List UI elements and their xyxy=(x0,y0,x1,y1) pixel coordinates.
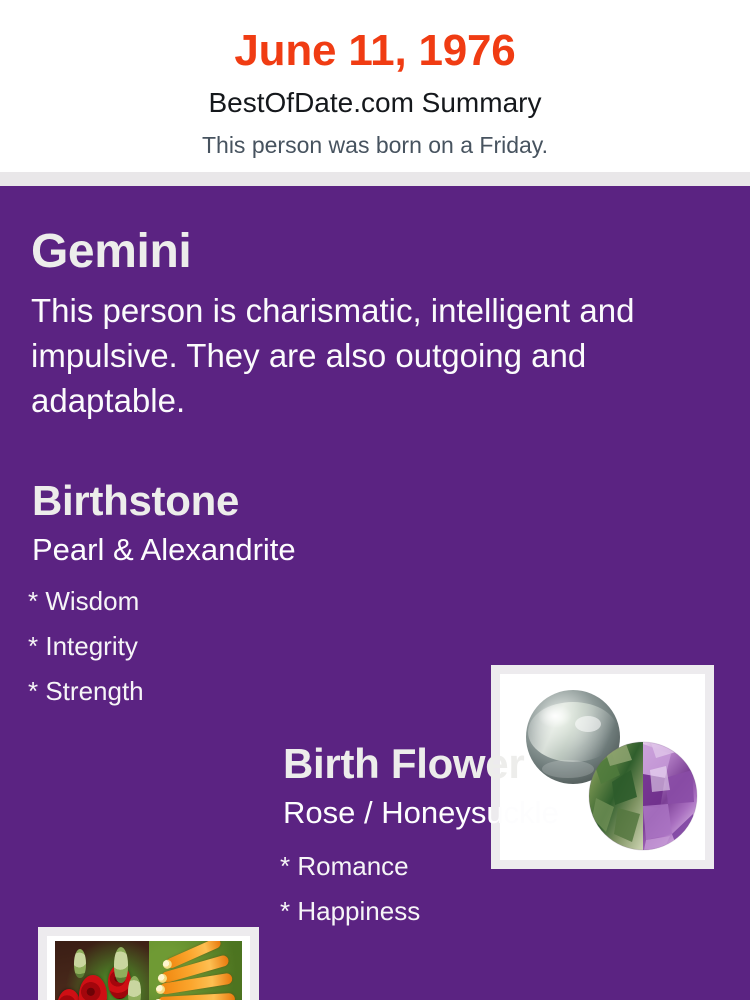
summary-panel: Gemini This person is charismatic, intel… xyxy=(0,186,750,1000)
birthstone-image xyxy=(491,665,714,869)
birth-flower-image xyxy=(38,927,259,1000)
list-item: * Wisdom xyxy=(28,579,144,624)
birth-flower-image-inner xyxy=(47,936,250,1000)
birthstone-title: Birthstone xyxy=(32,476,239,526)
page-title-date: June 11, 1976 xyxy=(0,24,750,78)
list-item: * Happiness xyxy=(280,889,420,934)
list-item: * Strength xyxy=(28,669,144,714)
birthstone-trait-list: * Wisdom * Integrity * Strength xyxy=(28,579,144,714)
birth-flower-trait-list: * Romance * Happiness xyxy=(280,844,420,934)
list-item: * Integrity xyxy=(28,624,144,669)
zodiac-description: This person is charismatic, intelligent … xyxy=(31,288,697,423)
birth-flower-title: Birth Flower xyxy=(283,739,524,789)
date-summary-card: June 11, 1976 BestOfDate.com Summary Thi… xyxy=(0,0,750,1000)
honeysuckle-photo-half xyxy=(149,941,243,1000)
card-header: June 11, 1976 BestOfDate.com Summary Thi… xyxy=(0,0,750,172)
birthstone-name: Pearl & Alexandrite xyxy=(32,530,296,570)
header-divider xyxy=(0,172,750,186)
birth-flower-name: Rose / Honeysuckle xyxy=(283,793,559,833)
rose-and-honeysuckle-graphic xyxy=(47,936,250,1000)
list-item: * Romance xyxy=(280,844,420,889)
birth-day-of-week: This person was born on a Friday. xyxy=(0,130,750,160)
zodiac-sign-title: Gemini xyxy=(31,224,191,280)
rose-photo-half xyxy=(55,941,149,1000)
site-name: BestOfDate.com Summary xyxy=(0,86,750,120)
